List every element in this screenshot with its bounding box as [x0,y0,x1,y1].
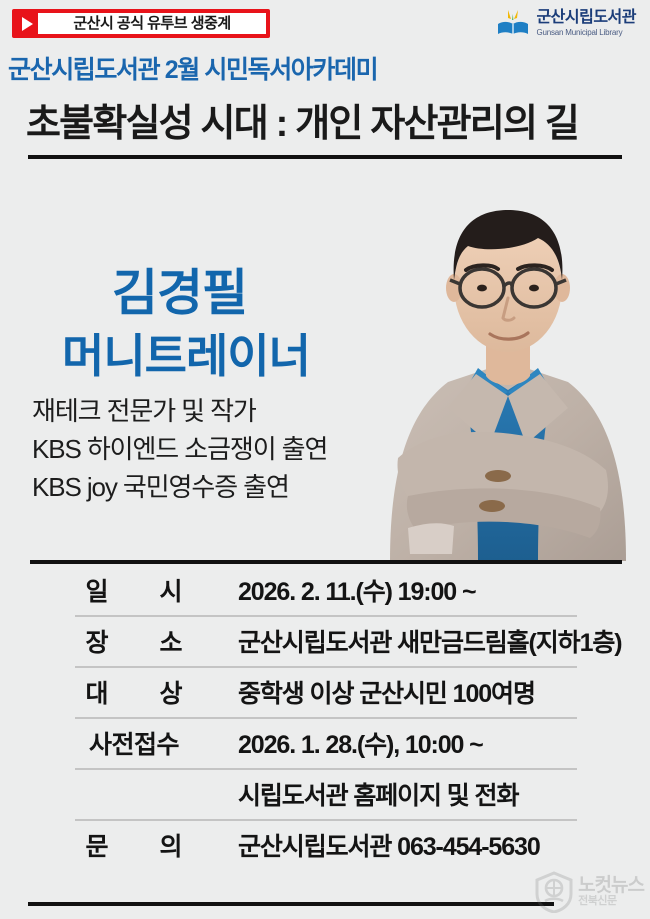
table-bottom-divider [28,902,554,906]
press-watermark-text: 노컷뉴스 [578,876,644,896]
speaker-name: 김경필 [112,253,247,325]
youtube-live-badge[interactable]: 군산시 공식 유투브 생중계 [12,9,270,38]
poster-subtitle: 군산시립도서관 2월 시민독서아카데미 [8,50,377,86]
speaker-bio-line-1: 재테크 전문가 및 작가 [32,392,327,430]
detail-value-inquiry: 군산시립도서관 063-454-5630 [238,827,622,863]
detail-label-audience: 대 상 [30,674,238,710]
detail-label-venue: 장 소 [30,623,238,659]
play-triangle-icon [16,13,38,34]
library-logo-name-ko: 군산시립도서관 [536,10,636,26]
library-logo: 군산시립도서관 Gunsan Municipal Library [496,8,636,38]
speaker-bio-line-3: KBS joy 국민영수증 출연 [32,468,327,506]
library-logo-name-en: Gunsan Municipal Library [536,29,636,37]
poster-title: 초불확실성 시대 : 개인 자산관리의 길 [26,92,578,147]
detail-value-venue: 군산시립도서관 새만금드림홀(지하1층) [238,623,622,659]
detail-value-audience: 중학생 이상 군산시민 100여명 [238,674,622,710]
press-shield-icon [534,871,574,913]
speaker-bio-line-2: KBS 하이엔드 소금쟁이 출연 [32,430,327,468]
table-row: 문 의 군산시립도서관 063-454-5630 [30,819,622,870]
detail-label-inquiry: 문 의 [30,827,238,863]
press-watermark: 노컷뉴스 전북신문 [534,871,644,913]
detail-label-registration: 사전접수 [30,725,238,761]
detail-value-datetime: 2026. 2. 11.(수) 19:00 ~ [238,572,622,608]
event-details-table: 일 시 2026. 2. 11.(수) 19:00 ~ 장 소 군산시립도서관 … [30,560,622,870]
open-book-sprout-icon [496,8,530,38]
speaker-role: 머니트레이너 [62,320,310,386]
table-row: 시립도서관 홈페이지 및 전화 [30,768,622,819]
table-row: 사전접수 2026. 1. 28.(수), 10:00 ~ [30,717,622,768]
detail-value-registration-date: 2026. 1. 28.(수), 10:00 ~ [238,725,622,761]
event-poster: 군산시 공식 유투브 생중계 군산시립도서관 Gunsan Municipal … [0,0,650,919]
table-row: 일 시 2026. 2. 11.(수) 19:00 ~ [30,564,622,615]
detail-value-registration-method: 시립도서관 홈페이지 및 전화 [238,776,622,812]
speaker-bio: 재테크 전문가 및 작가 KBS 하이엔드 소금쟁이 출연 KBS joy 국민… [32,392,327,506]
speaker-photo [372,176,644,561]
table-row: 대 상 중학생 이상 군산시민 100여명 [30,666,622,717]
table-row: 장 소 군산시립도서관 새만금드림홀(지하1층) [30,615,622,666]
title-divider [28,155,622,159]
detail-label-datetime: 일 시 [30,572,238,608]
youtube-live-badge-label: 군산시 공식 유투브 생중계 [38,13,266,34]
press-watermark-subtext: 전북신문 [578,896,644,908]
